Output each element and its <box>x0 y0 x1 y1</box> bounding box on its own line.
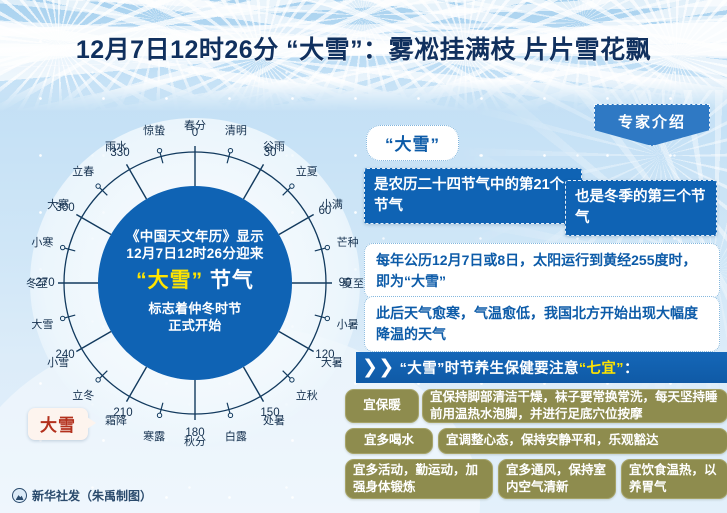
tip-chip-keep-warm: 宜保暖 <box>345 389 419 423</box>
wheel-major-tick <box>244 367 264 402</box>
wheel-center-line-1: 《中国天文年历》显示 <box>98 228 292 245</box>
page-title: 12月7日12时26分 “大雪”：雾凇挂满枝 片片雪花飘 <box>0 30 727 66</box>
wheel-degree-label: 30 <box>264 147 277 159</box>
infographic-root: 12月7日12时26分 “大雪”：雾凇挂满枝 片片雪花飘 春分0清明谷雨30立夏… <box>0 0 727 513</box>
wheel-term-label: 小寒 <box>31 234 53 250</box>
wheel-term-label: 小暑 <box>337 316 359 332</box>
credit-line: 新华社发（朱禹制图） <box>12 487 152 504</box>
wheel-center-text: 《中国天文年历》显示 12月7日12时26分迎来 “大雪” 节气 标志着仲冬时节… <box>98 228 292 335</box>
wheel-tick-nub <box>290 378 294 382</box>
wheel-center-headline: “大雪” 节气 <box>98 268 292 295</box>
info-box-rank-in-winter: 也是冬季的第三个节气 <box>565 180 717 236</box>
wheel-term-label: 立夏 <box>296 163 318 179</box>
credit-text: 新华社发（朱禹制图） <box>32 487 152 504</box>
wheel-degree-label: 270 <box>35 277 54 289</box>
wheel-minor-tick <box>315 315 326 318</box>
wheel-minor-tick <box>160 403 163 414</box>
health-tips-header: ❯❯ “大雪”时节养生保健要注意 “七宜” ： <box>356 352 727 383</box>
wheel-tick-nub <box>228 148 232 152</box>
wheel-degree-label: 60 <box>318 205 331 217</box>
tip-chip-exercise: 宜多活动，勤运动，加强身体锻炼 <box>345 459 493 499</box>
daxue-callout-pin: 大雪 <box>28 408 88 440</box>
wheel-term-label: 白露 <box>225 428 247 444</box>
wheel-major-tick <box>127 164 147 199</box>
tip-chip-warm-food: 宜饮食温热，以养胃气 <box>621 459 727 499</box>
wheel-term-label: 清明 <box>225 122 247 138</box>
wheel-minor-tick <box>227 153 230 164</box>
wheel-tick-nub <box>290 184 294 188</box>
wheel-degree-label: 210 <box>113 407 132 419</box>
wheel-degree-label: 330 <box>110 147 129 159</box>
wheel-minor-tick <box>160 153 163 164</box>
wheel-term-label: 芒种 <box>337 234 359 250</box>
wheel-tick-nub <box>228 413 232 417</box>
wheel-center-headline-rest: 节气 <box>203 269 254 292</box>
tip-chip-mindset: 宜调整心态，保持安静平和，乐观豁达 <box>438 428 727 454</box>
chevron-right-icon: ❯❯ <box>362 358 395 377</box>
health-tips-section: ❯❯ “大雪”时节养生保健要注意 “七宜” ： 宜保暖 宜保持脚部清洁干燥，袜子… <box>356 352 727 513</box>
wheel-tick-nub <box>60 316 64 320</box>
info-box-date-and-longitude: 每年公历12月7日或8日，太阳运行到黄经255度时，即为“大雪” <box>364 243 720 299</box>
wheel-tick-nub <box>325 245 329 249</box>
wheel-center-line-2: 12月7日12时26分迎来 <box>98 245 292 262</box>
wheel-degree-label: 180 <box>185 427 204 439</box>
wheel-tick-nub <box>60 245 64 249</box>
wheel-degree-label: 120 <box>315 349 334 361</box>
wheel-term-label: 寒露 <box>143 428 165 444</box>
wheel-major-tick <box>244 164 264 199</box>
wheel-term-label: 惊蛰 <box>143 122 165 138</box>
wheel-degree-label: 90 <box>339 277 352 289</box>
wheel-degree-label: 0 <box>192 127 198 139</box>
wheel-degree-label: 300 <box>56 202 75 214</box>
wheel-minor-tick <box>315 248 326 251</box>
tip-chip-ventilation: 宜多通风，保持室内空气清新 <box>498 459 616 499</box>
wheel-term-label: 立春 <box>72 163 94 179</box>
wheel-degree-label: 150 <box>260 407 279 419</box>
wheel-tick-nub <box>157 413 161 417</box>
wheel-major-tick <box>127 367 147 402</box>
wheel-minor-tick <box>65 315 76 318</box>
health-tips-header-prefix: “大雪”时节养生保健要注意 <box>400 357 579 378</box>
wheel-tick-nub <box>325 316 329 320</box>
health-tips-header-suffix: ： <box>624 357 639 378</box>
xinhua-logo-icon <box>12 488 27 503</box>
wheel-term-label: 立秋 <box>296 387 318 403</box>
solar-terms-wheel: 春分0清明谷雨30立夏小满60芒种夏至90小暑大暑120立秋处暑150白露秋分1… <box>22 110 367 465</box>
info-box-weather-trend: 此后天气愈寒，气温愈低，我国北方开始出现大幅度降温的天气 <box>364 296 720 352</box>
info-box-rank-in-24-terms: 是农历二十四节气中的第21个节气 <box>364 168 582 224</box>
tip-chip-drink-water: 宜多喝水 <box>345 428 433 454</box>
wheel-degree-label: 240 <box>56 349 75 361</box>
wheel-center-headline-highlight: “大雪” <box>136 269 203 292</box>
wheel-term-label: 立冬 <box>72 387 94 403</box>
wheel-minor-tick <box>227 403 230 414</box>
wheel-tick-nub <box>96 184 100 188</box>
wheel-term-label: 大雪 <box>31 316 53 332</box>
wheel-center-sub-2: 正式开始 <box>98 318 292 335</box>
tip-chip-foot-care: 宜保持脚部清洁干燥，袜子要常换常洗，每天坚持睡前用温热水泡脚，并进行足底穴位按摩 <box>422 389 727 423</box>
health-tips-header-highlight: “七宜” <box>579 357 624 378</box>
wheel-tick-nub <box>157 148 161 152</box>
wheel-center-sub-1: 标志着仲冬时节 <box>98 301 292 318</box>
daxue-heading-chip: “大雪” <box>366 125 459 161</box>
wheel-minor-tick <box>65 248 76 251</box>
wheel-tick-nub <box>96 378 100 382</box>
